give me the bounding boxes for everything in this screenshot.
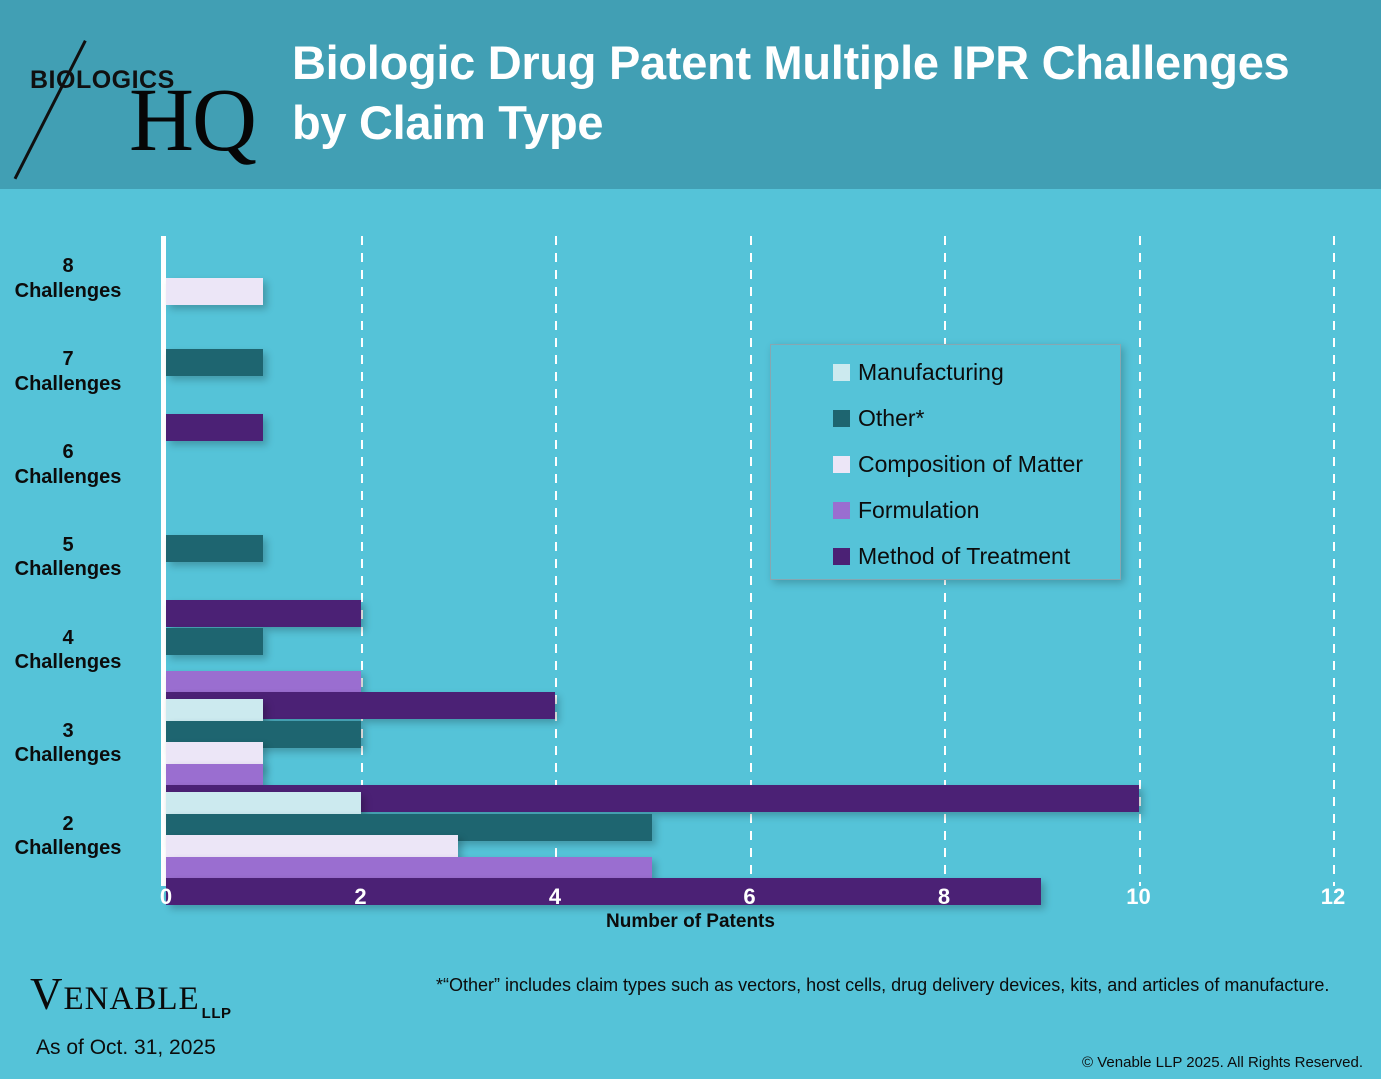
- category-label-7-challenges: 7Challenges: [0, 347, 158, 396]
- slash-divider-icon: [14, 40, 87, 179]
- category-label-3-challenges: 3Challenges: [0, 719, 158, 768]
- copyright-notice: © Venable LLP 2025. All Rights Reserved.: [1082, 1054, 1363, 1071]
- venable-logo: VENABLELLP: [30, 972, 232, 1022]
- venable-logo-suffix: LLP: [202, 1005, 232, 1022]
- category-label-6-challenges: 6Challenges: [0, 440, 158, 489]
- bar-2-challenges-method-of-treatment: [166, 878, 1041, 905]
- header-band: BIOLOGICS HQ Biologic Drug Patent Multip…: [0, 0, 1381, 189]
- category-label-8-challenges: 8Challenges: [0, 254, 158, 303]
- venable-logo-rest: ENABLE: [64, 981, 200, 1017]
- as-of-date: As of Oct. 31, 2025: [36, 1036, 216, 1060]
- bar-7-challenges-method-of-treatment: [166, 414, 263, 441]
- bar-5-challenges-other-: [166, 535, 263, 562]
- biologicshq-logo: BIOLOGICS HQ: [24, 30, 264, 155]
- x-tick-6: 6: [720, 884, 780, 910]
- legend-swatch-icon: [833, 410, 850, 427]
- category-label-2-challenges: 2Challenges: [0, 812, 158, 861]
- category-label-4-challenges: 4Challenges: [0, 626, 158, 675]
- bar-5-challenges-method-of-treatment: [166, 600, 361, 627]
- legend-item-composition-of-matter[interactable]: Composition of Matter: [833, 451, 1083, 478]
- legend-label: Composition of Matter: [858, 451, 1083, 478]
- chart-legend: ManufacturingOther*Composition of Matter…: [770, 344, 1121, 580]
- x-tick-12: 12: [1303, 884, 1363, 910]
- legend-label: Formulation: [858, 497, 979, 524]
- legend-item-manufacturing[interactable]: Manufacturing: [833, 359, 1004, 386]
- legend-swatch-icon: [833, 548, 850, 565]
- legend-label: Other*: [858, 405, 924, 432]
- bar-8-challenges-composition-of-matter: [166, 278, 263, 305]
- legend-swatch-icon: [833, 456, 850, 473]
- page-title: Biologic Drug Patent Multiple IPR Challe…: [292, 33, 1292, 153]
- venable-logo-initial: V: [30, 969, 64, 1019]
- footnote-other-definition: *“Other” includes claim types such as ve…: [436, 975, 1329, 996]
- x-tick-4: 4: [525, 884, 585, 910]
- category-label-5-challenges: 5Challenges: [0, 533, 158, 582]
- x-tick-2: 2: [331, 884, 391, 910]
- legend-item-formulation[interactable]: Formulation: [833, 497, 979, 524]
- x-tick-10: 10: [1109, 884, 1169, 910]
- gridline-12: [1333, 236, 1335, 886]
- logo-brand-bottom: HQ: [129, 76, 255, 166]
- gridline-10: [1139, 236, 1141, 886]
- legend-label: Method of Treatment: [858, 543, 1070, 570]
- legend-swatch-icon: [833, 364, 850, 381]
- x-tick-8: 8: [914, 884, 974, 910]
- legend-item-other-[interactable]: Other*: [833, 405, 924, 432]
- bar-7-challenges-other-: [166, 349, 263, 376]
- x-tick-0: 0: [136, 884, 196, 910]
- legend-item-method-of-treatment[interactable]: Method of Treatment: [833, 543, 1070, 570]
- legend-label: Manufacturing: [858, 359, 1004, 386]
- x-axis-title: Number of Patents: [0, 911, 1381, 933]
- legend-swatch-icon: [833, 502, 850, 519]
- bar-4-challenges-other-: [166, 628, 263, 655]
